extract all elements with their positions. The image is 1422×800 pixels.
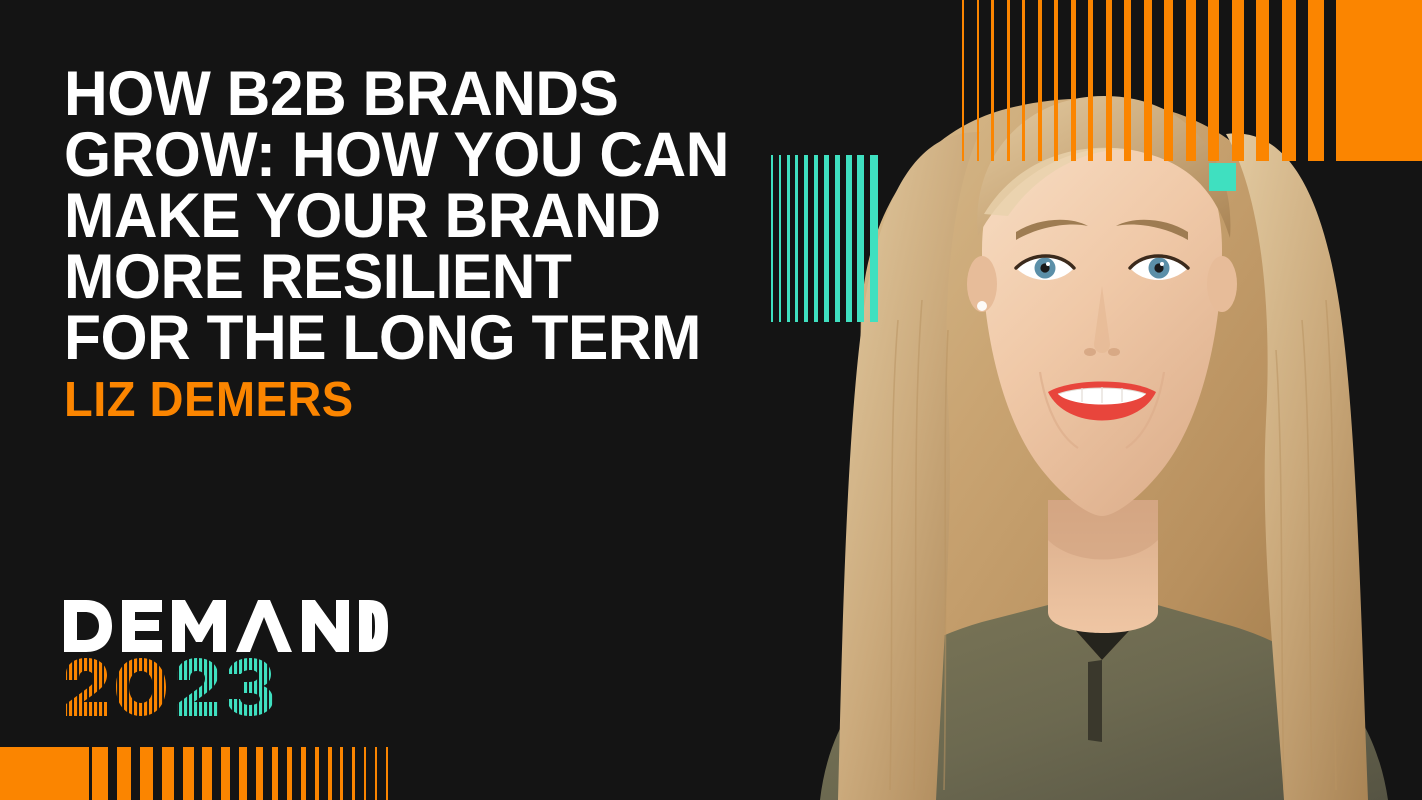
decor-bar	[272, 747, 278, 800]
decor-bar	[183, 747, 194, 800]
earring-left	[977, 301, 987, 311]
decor-bar	[202, 747, 212, 800]
decor-bar	[991, 0, 994, 161]
title-block: HOW B2B BRANDS GROW: HOW YOU CAN MAKE YO…	[64, 64, 854, 425]
decor-bar	[1071, 0, 1076, 161]
smile-line-left	[1040, 372, 1078, 448]
headline-line-5: FOR THE LONG TERM	[64, 303, 701, 373]
decor-bar	[857, 155, 864, 322]
demand-wordmark	[64, 600, 388, 652]
speaker-announcement-graphic: HOW B2B BRANDS GROW: HOW YOU CAN MAKE YO…	[0, 0, 1422, 800]
demand-year-2023	[64, 658, 302, 716]
decor-bar	[140, 747, 153, 800]
decor-bar	[287, 747, 292, 800]
speaker-name: LIZ DEMERS	[64, 376, 822, 425]
ear-left	[967, 256, 997, 312]
teal-accent-square	[1209, 163, 1236, 191]
decor-bar	[962, 0, 964, 161]
nose	[1094, 286, 1110, 353]
headline-line-1: HOW B2B BRANDS	[64, 59, 618, 129]
eye-left	[1016, 256, 1074, 280]
decor-bar	[256, 747, 263, 800]
digit-2-b	[177, 658, 218, 716]
decor-bar	[1256, 0, 1269, 161]
page-title: HOW B2B BRANDS GROW: HOW YOU CAN MAKE YO…	[64, 64, 822, 370]
digit-0	[116, 658, 166, 716]
decor-bar	[352, 747, 355, 800]
digit-2-a	[66, 658, 107, 716]
top-right-solid-block	[1336, 0, 1422, 161]
decor-bar	[221, 747, 230, 800]
decor-bar	[301, 747, 306, 800]
decor-bar	[1007, 0, 1010, 161]
top-right-bar-pattern	[962, 0, 1337, 161]
bottom-left-bar-pattern	[92, 747, 397, 800]
blouse	[820, 604, 1388, 800]
eye-right	[1130, 256, 1188, 280]
decor-bar	[328, 747, 332, 800]
decor-bar	[162, 747, 174, 800]
headline-line-4: MORE RESILIENT	[64, 242, 571, 312]
decor-bar	[1232, 0, 1244, 161]
collar-notch	[1052, 596, 1154, 660]
decor-bar	[1124, 0, 1131, 161]
hair-right-front	[1226, 133, 1368, 800]
neck-shadow	[1048, 500, 1158, 560]
decor-bar	[1308, 0, 1324, 161]
decor-bar	[117, 747, 131, 800]
decor-bar	[1088, 0, 1093, 161]
digit-3	[227, 658, 273, 716]
hair-back	[861, 99, 1318, 800]
headline-line-3: MAKE YOUR BRAND	[64, 181, 661, 251]
decor-bar	[92, 747, 108, 800]
decor-bar	[239, 747, 247, 800]
decor-bar	[1054, 0, 1058, 161]
hair-strands	[890, 300, 1336, 790]
face	[982, 108, 1222, 516]
smile-line-right	[1126, 372, 1164, 448]
headline-line-2: GROW: HOW YOU CAN	[64, 120, 729, 190]
eyebrow-left	[1016, 220, 1088, 240]
decor-bar	[386, 747, 388, 800]
bottom-left-solid-block	[0, 747, 89, 800]
decor-bar	[1144, 0, 1152, 161]
decor-bar	[1038, 0, 1042, 161]
decor-bar	[375, 747, 377, 800]
decor-bar	[340, 747, 343, 800]
decor-bar	[315, 747, 319, 800]
decor-bar	[364, 747, 366, 800]
decor-bar	[977, 0, 979, 161]
decor-bar	[1208, 0, 1219, 161]
decor-bar	[1022, 0, 1025, 161]
decor-bar	[1106, 0, 1112, 161]
ear-right	[1207, 256, 1237, 312]
decor-bar	[1164, 0, 1173, 161]
mouth	[1048, 382, 1156, 421]
collar-placket	[1088, 660, 1102, 742]
decor-bar	[1282, 0, 1296, 161]
neck	[1048, 500, 1158, 633]
eyebrow-right	[1116, 220, 1188, 240]
decor-bar	[1186, 0, 1196, 161]
decor-bar	[870, 155, 878, 322]
demand-2023-logo	[64, 600, 388, 716]
